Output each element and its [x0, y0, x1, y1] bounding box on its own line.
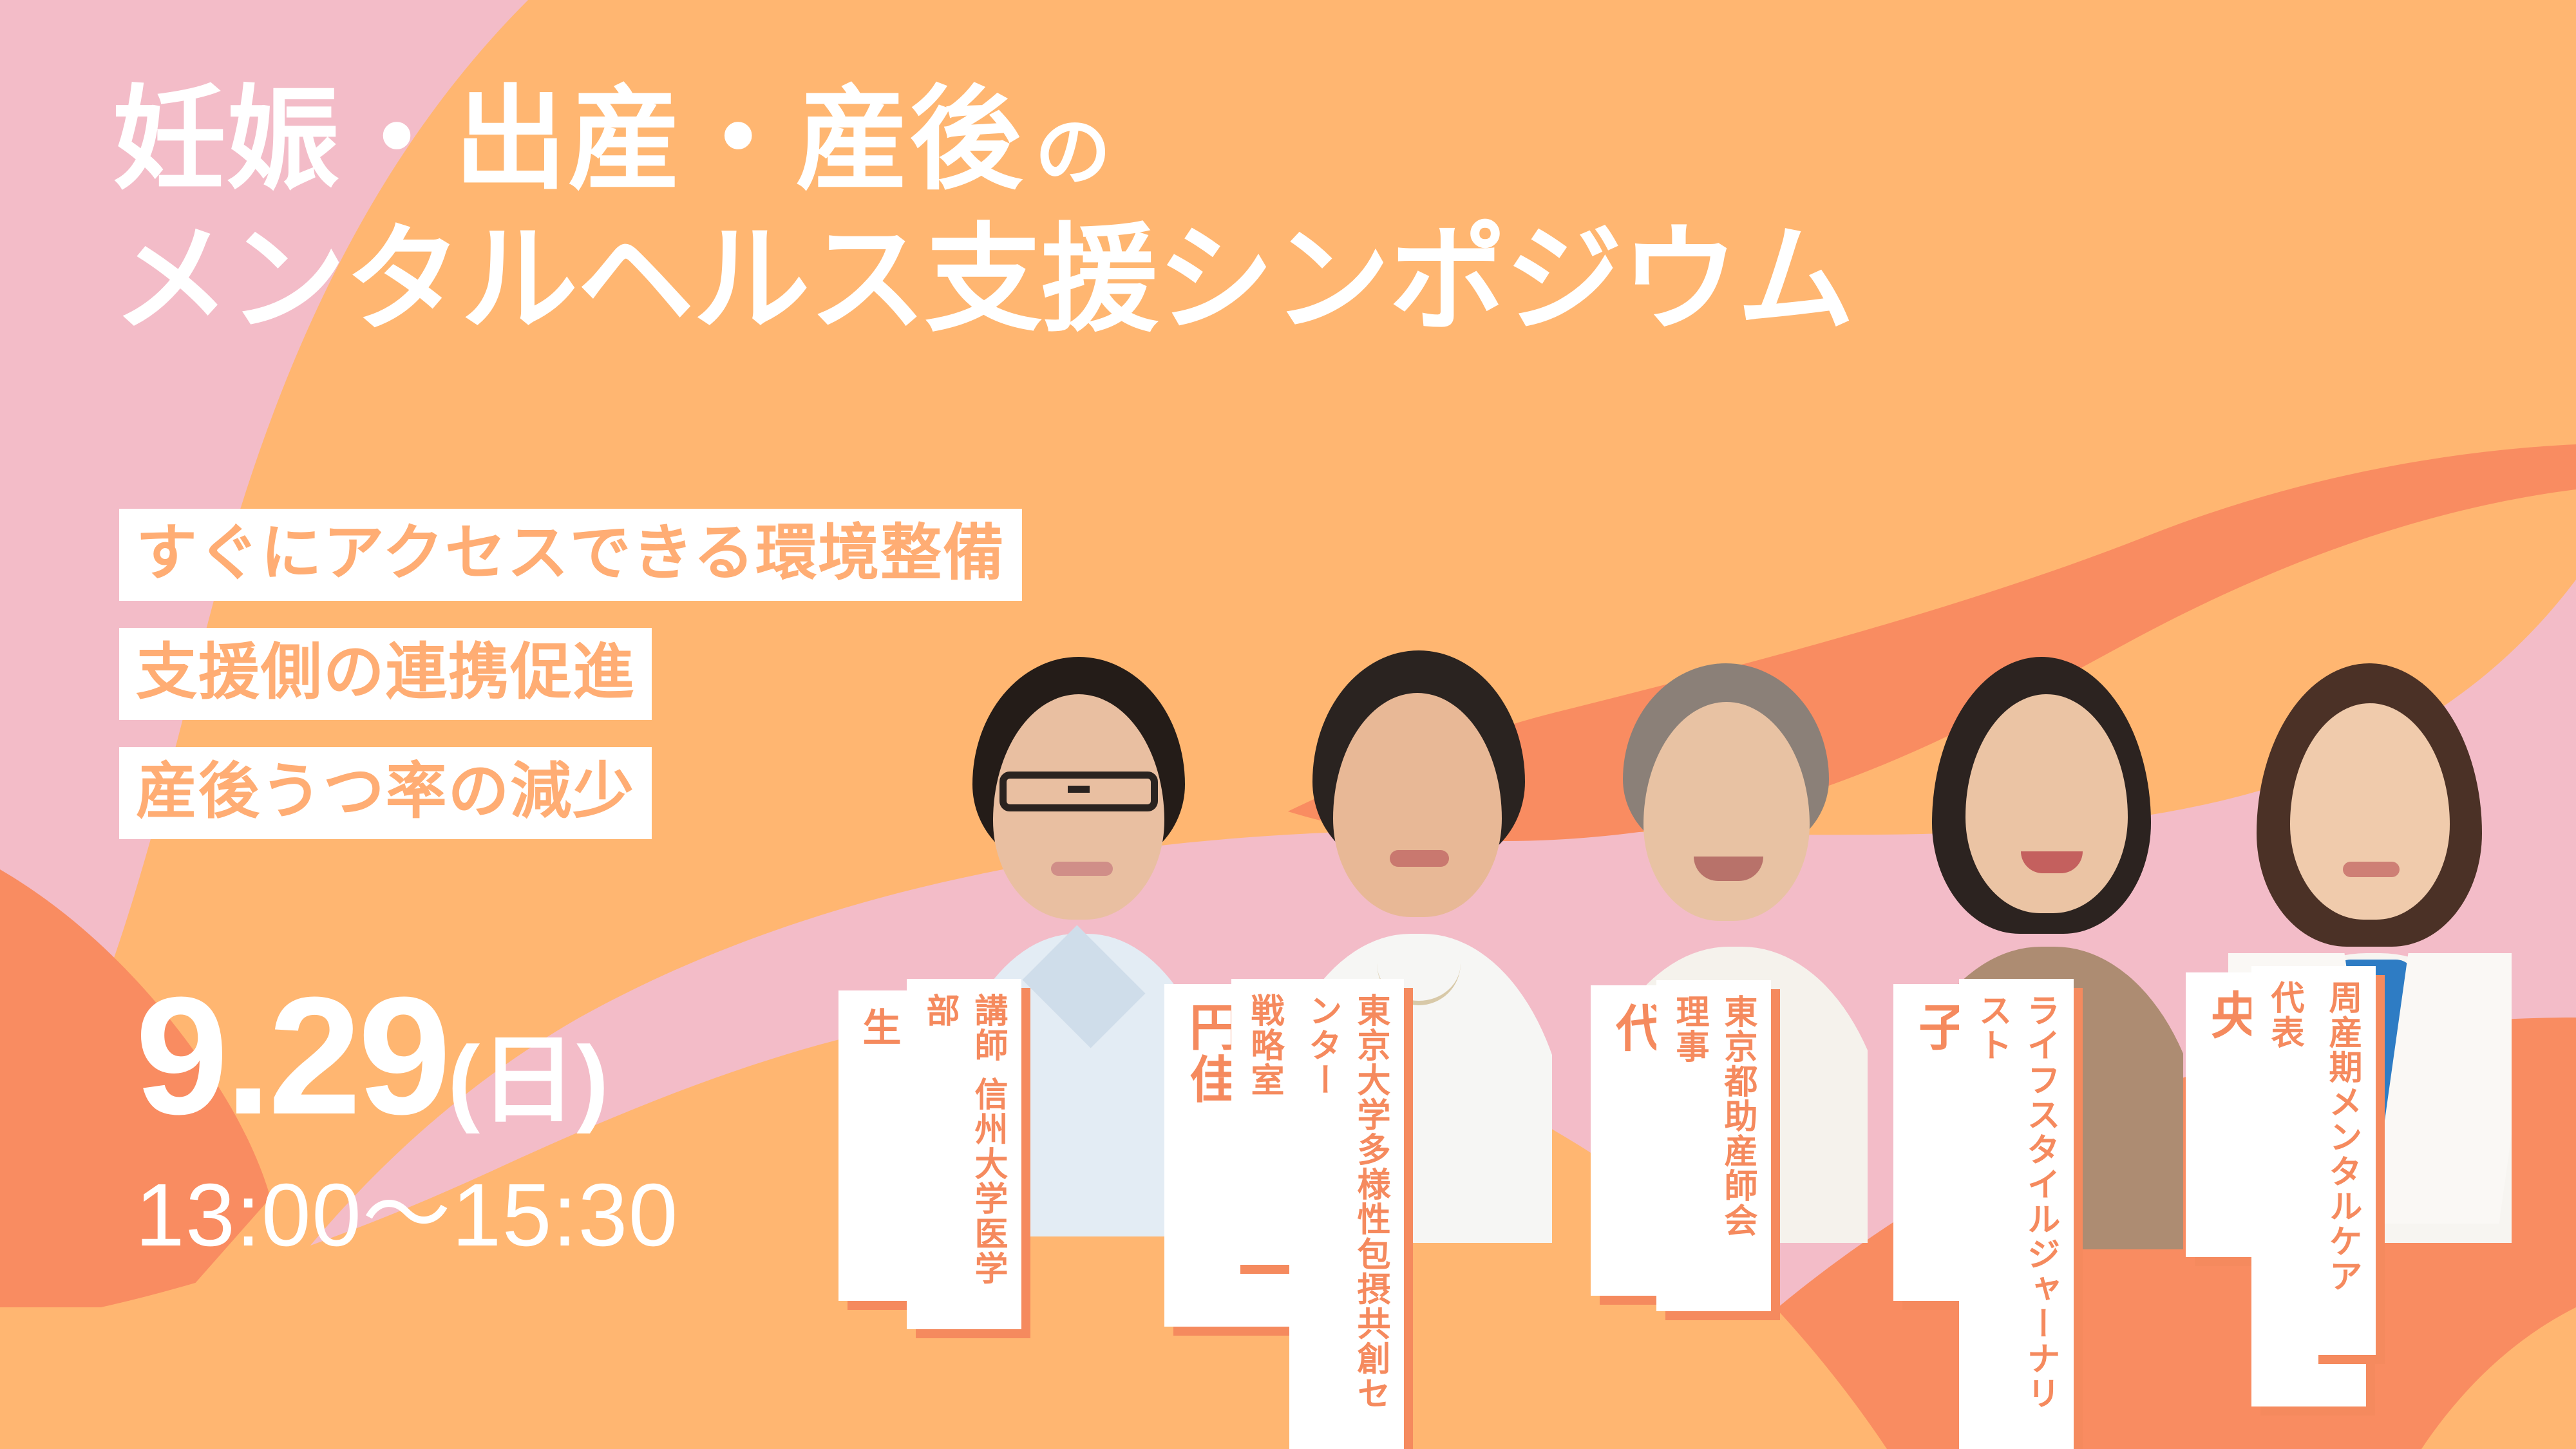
speaker-3-affiliation-plate: 東京都助産師会 理事 — [1656, 980, 1771, 1311]
symposium-poster: 妊娠・出産・産後の メンタルヘルス支援シンポジウム すぐにアクセスできる環境整備… — [0, 0, 2576, 1449]
speaker-4-affiliation: ライフスタイルジャーナリスト — [1973, 993, 2059, 1411]
speaker-1-affiliation-plate: 講師信州大学医学部 — [907, 979, 1021, 1329]
speaker-2-affiliation: 東京大学多様性包摂共創センター — [1303, 993, 1389, 1411]
speaker-1-title: 講師 — [969, 993, 1007, 1063]
speaker-3-affiliation: 東京都助産師会 理事 — [1671, 994, 1756, 1238]
speaker-4-affiliation-plate: ライフスタイルジャーナリスト — [1959, 979, 2074, 1449]
speaker-5-affiliation-plate-a: 周産期メンタルケア — [2309, 966, 2376, 1355]
speaker-plate-group: 村上 寛先生 講師信州大学医学部 准教授中野 円佳 DEI共創推進戦略室 東京大… — [0, 0, 2576, 1449]
speaker-2-affiliation-plate-a: 東京大学多様性包摂共創センター — [1289, 979, 1404, 1449]
speaker-5-affiliation: 周産期メンタルケア — [2324, 980, 2361, 1294]
